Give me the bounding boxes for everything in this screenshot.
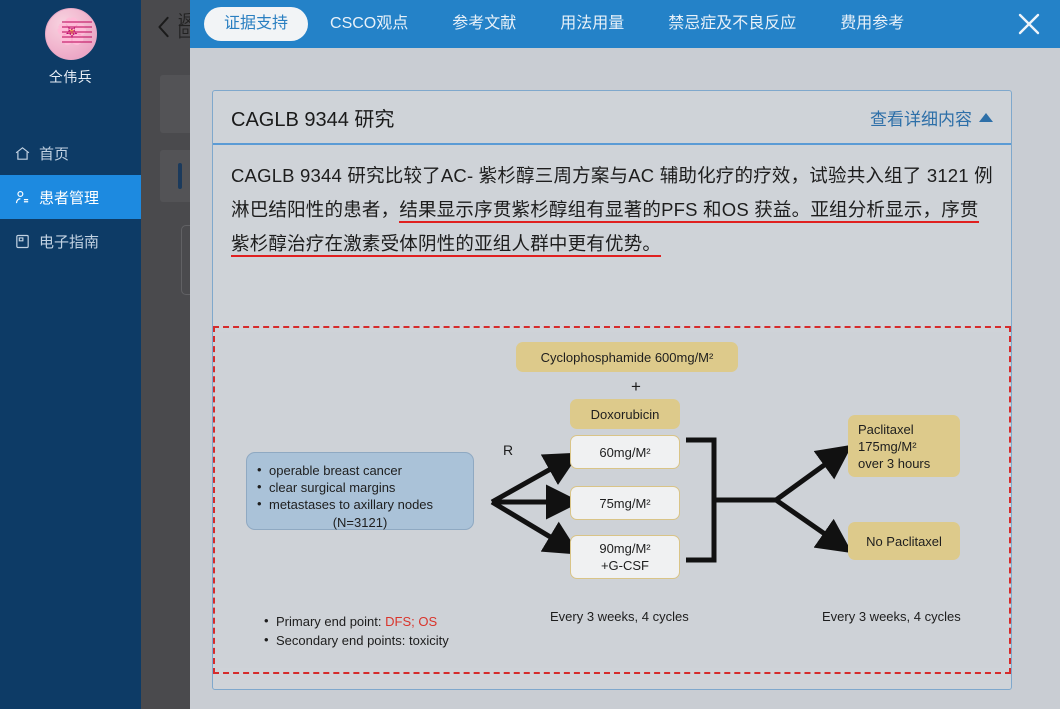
- primary-endpoint-row: Primary end point: DFS; OS: [264, 612, 580, 631]
- sidebar-item-e-guideline[interactable]: 电子指南: [0, 219, 141, 263]
- population-sample-size: (N=3121): [257, 514, 463, 531]
- study-card: CAGLB 9344 研究 查看详细内容 CAGLB 9344 研究比较了AC-…: [212, 90, 1012, 690]
- node-paclitaxel: Paclitaxel 175mg/M² over 3 hours: [848, 415, 960, 477]
- evidence-modal-panel: 证据支持 CSCO观点 参考文献 用法用量 禁忌症及不良反应 费用参考 CAGL…: [190, 0, 1060, 709]
- endpoints-block: Primary end point: DFS; OS Secondary end…: [250, 612, 580, 650]
- tab-evidence-support[interactable]: 证据支持: [204, 7, 308, 41]
- avatar-text-marks: [62, 21, 92, 43]
- avatar[interactable]: 🌸: [45, 8, 97, 60]
- trial-schema-canvas: Cyclophosphamide 600mg/M² + Doxorubicin …: [220, 332, 1006, 668]
- sidebar-item-patient-management-label: 患者管理: [39, 187, 99, 208]
- node-dose-90-gcsf: 90mg/M² +G-CSF: [570, 535, 680, 579]
- sidebar: 🌸 仝伟兵 首页 患者管理: [0, 0, 141, 709]
- node-doxorubicin: Doxorubicin: [570, 399, 680, 429]
- chevron-left-icon[interactable]: [153, 14, 175, 40]
- page-title: CAGLB 9344 研究: [231, 103, 394, 132]
- node-cyclophosphamide: Cyclophosphamide 600mg/M²: [516, 342, 738, 372]
- study-card-header: CAGLB 9344 研究 查看详细内容: [213, 91, 1011, 145]
- tab-contraindications[interactable]: 禁忌症及不良反应: [646, 0, 818, 48]
- primary-endpoint-label: Primary end point:: [276, 614, 382, 629]
- sidebar-item-home[interactable]: 首页: [0, 131, 141, 175]
- sidebar-nav: 首页 患者管理 电子指南: [0, 131, 141, 263]
- home-icon: [14, 145, 31, 162]
- user-name: 仝伟兵: [0, 67, 141, 87]
- summary-underlined-part-1: 结果显示序贯紫杉醇组有显著的PFS 和OS 获益。: [399, 199, 810, 223]
- node-no-paclitaxel: No Paclitaxel: [848, 522, 960, 560]
- node-dose-60: 60mg/M²: [570, 435, 680, 469]
- background-ghost-accent-bar: [178, 163, 182, 189]
- secondary-endpoint-row: Secondary end points: toxicity: [264, 631, 580, 650]
- app-root: 🌸 仝伟兵 首页 患者管理: [0, 0, 1060, 709]
- population-criteria-list: operable breast cancer clear surgical ma…: [257, 462, 463, 513]
- user-icon: [14, 189, 31, 206]
- population-criterion-2: clear surgical margins: [257, 479, 463, 496]
- population-criterion-3: metastases to axillary nodes: [257, 496, 463, 513]
- randomization-label: R: [503, 442, 513, 459]
- tab-references[interactable]: 参考文献: [430, 0, 538, 48]
- view-details-toggle[interactable]: 查看详细内容: [870, 105, 993, 130]
- document-icon: [14, 233, 31, 250]
- tab-dosage[interactable]: 用法用量: [538, 0, 646, 48]
- tab-bar: 证据支持 CSCO观点 参考文献 用法用量 禁忌症及不良反应 费用参考: [190, 0, 1060, 48]
- population-criterion-1: operable breast cancer: [257, 462, 463, 479]
- tab-cost-reference[interactable]: 费用参考: [818, 0, 926, 48]
- view-details-label: 查看详细内容: [870, 105, 972, 130]
- sidebar-item-patient-management[interactable]: 患者管理: [0, 175, 141, 219]
- schedule-right: Every 3 weeks, 4 cycles: [822, 608, 961, 625]
- secondary-endpoint-value: toxicity: [409, 633, 449, 648]
- population-box: operable breast cancer clear surgical ma…: [246, 452, 474, 530]
- study-summary-text: CAGLB 9344 研究比较了AC- 紫杉醇三周方案与AC 辅助化疗的疗效，试…: [213, 145, 1011, 261]
- tab-csco-viewpoint[interactable]: CSCO观点: [308, 0, 430, 48]
- primary-endpoint-value: DFS; OS: [385, 614, 437, 629]
- caret-up-icon: [979, 113, 993, 122]
- trial-schema-diagram: Cyclophosphamide 600mg/M² + Doxorubicin …: [213, 326, 1011, 674]
- close-icon[interactable]: [1012, 7, 1046, 41]
- avatar-block: 🌸 仝伟兵: [0, 0, 141, 87]
- sidebar-item-e-guideline-label: 电子指南: [39, 231, 99, 252]
- node-dose-75: 75mg/M²: [570, 486, 680, 520]
- secondary-endpoint-label: Secondary end points:: [276, 633, 405, 648]
- sidebar-item-home-label: 首页: [39, 143, 69, 164]
- node-plus-sign: +: [631, 378, 641, 395]
